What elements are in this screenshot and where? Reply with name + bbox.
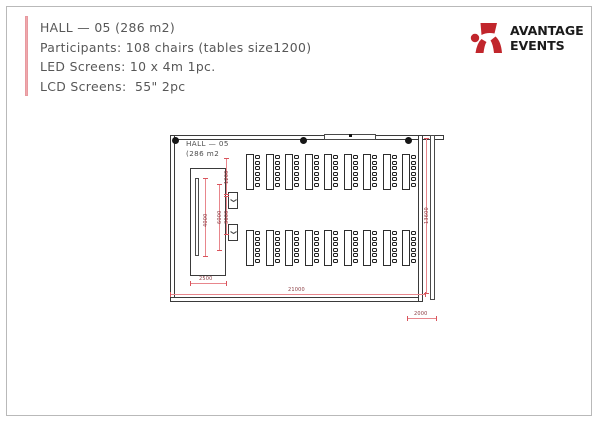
seat-group-bottom-5-chair-5 xyxy=(333,253,338,257)
seat-group-bottom-5-chair-6 xyxy=(333,259,338,263)
seat-group-bottom-8-chair-3 xyxy=(392,242,397,246)
seat-group-bottom-4-table xyxy=(305,230,313,266)
seat-group-top-7-chair-3 xyxy=(372,166,377,170)
seat-group-bottom-8-table xyxy=(383,230,391,266)
lcd-screen-2: ❯ xyxy=(228,224,238,241)
spec-line-lcd-screens: LCD Screens: 55" 2pc xyxy=(40,77,420,97)
seat-group-top-4-chair-3 xyxy=(314,166,319,170)
seat-group-top-9 xyxy=(402,154,417,190)
seat-group-top-1-chair-6 xyxy=(255,183,260,187)
seat-group-top-6-chair-4 xyxy=(353,172,358,176)
seat-group-top-7-chair-1 xyxy=(372,155,377,159)
dim-3600-cap-top xyxy=(224,196,229,197)
seat-group-top-8-table xyxy=(383,154,391,190)
dim-2000-cap-right xyxy=(436,316,437,321)
seat-group-top-8-chair-1 xyxy=(392,155,397,159)
hall-caption-line1: HALL — 05 xyxy=(186,139,229,148)
hall-wall-corridor xyxy=(430,135,435,300)
logo-word-events: EVENTS xyxy=(510,38,582,53)
seat-group-top-6-chair-5 xyxy=(353,177,358,181)
seat-group-bottom-8-chair-2 xyxy=(392,237,397,241)
seat-group-bottom-1-chair-3 xyxy=(255,242,260,246)
header-accent-rule xyxy=(25,16,28,96)
seat-group-top-7-chair-2 xyxy=(372,161,377,165)
seat-group-top-8-chair-6 xyxy=(392,183,397,187)
dim-13600-cap-top xyxy=(424,138,429,139)
pillar-3 xyxy=(405,137,412,144)
seat-group-top-4-chair-1 xyxy=(314,155,319,159)
dim-1200-cap-bottom xyxy=(224,194,229,195)
pillar-1 xyxy=(172,137,179,144)
seat-group-bottom-9 xyxy=(402,230,417,266)
seat-group-bottom-9-chair-3 xyxy=(411,242,416,246)
seat-group-top-7 xyxy=(363,154,378,190)
hall-wall-left xyxy=(170,135,175,302)
seat-group-bottom-3-chair-2 xyxy=(294,237,299,241)
seat-group-bottom-5-chair-1 xyxy=(333,231,338,235)
dim-6000-cap-top xyxy=(217,184,222,185)
spec-line-hall: HALL — 05 (286 m2) xyxy=(40,18,420,38)
seat-group-top-4-chair-2 xyxy=(314,161,319,165)
seat-group-top-6-chair-6 xyxy=(353,183,358,187)
seat-group-top-3-chair-5 xyxy=(294,177,299,181)
dim-3600-label: 3600 xyxy=(224,210,230,224)
seat-group-bottom-2-chair-2 xyxy=(275,237,280,241)
seat-group-bottom-4-chair-2 xyxy=(314,237,319,241)
drawing-page: HALL — 05 (286 m2) Participants: 108 cha… xyxy=(0,0,600,424)
seat-group-top-1-chair-3 xyxy=(255,166,260,170)
seat-group-bottom-4-chair-3 xyxy=(314,242,319,246)
seat-group-bottom-7-chair-4 xyxy=(372,248,377,252)
seat-group-bottom-2-chair-4 xyxy=(275,248,280,252)
seat-group-top-4-chair-6 xyxy=(314,183,319,187)
seat-group-bottom-7-chair-5 xyxy=(372,253,377,257)
dim-21000-label: 21000 xyxy=(288,287,305,293)
seat-group-bottom-6 xyxy=(344,230,359,266)
seat-group-top-6-chair-2 xyxy=(353,161,358,165)
seat-group-bottom-7-chair-6 xyxy=(372,259,377,263)
seat-group-top-3-chair-3 xyxy=(294,166,299,170)
dim-2000-cap-left xyxy=(407,316,408,321)
seat-group-top-8-chair-5 xyxy=(392,177,397,181)
seat-group-bottom-4 xyxy=(305,230,320,266)
dim-4000-cap-top xyxy=(203,178,208,179)
seat-group-bottom-6-chair-6 xyxy=(353,259,358,263)
dim-2000-line xyxy=(407,318,437,319)
seat-group-top-4-chair-5 xyxy=(314,177,319,181)
dim-2500-cap-right xyxy=(226,281,227,286)
seat-group-bottom-1-chair-6 xyxy=(255,259,260,263)
seat-group-top-5 xyxy=(324,154,339,190)
seat-group-bottom-3-chair-5 xyxy=(294,253,299,257)
seat-group-top-3-chair-6 xyxy=(294,183,299,187)
hall-caption-line2: (286 m2 xyxy=(186,149,219,158)
seat-group-bottom-9-chair-6 xyxy=(411,259,416,263)
seat-group-bottom-2-chair-3 xyxy=(275,242,280,246)
lcd-screen-2-glyph-icon: ❯ xyxy=(230,230,237,235)
seat-group-bottom-5 xyxy=(324,230,339,266)
seat-group-top-4-table xyxy=(305,154,313,190)
logo-wordmark: AVANTAGE EVENTS xyxy=(510,23,582,53)
seat-group-bottom-9-chair-4 xyxy=(411,248,416,252)
seat-group-bottom-7 xyxy=(363,230,378,266)
seat-group-top-5-chair-4 xyxy=(333,172,338,176)
seat-group-bottom-1-chair-1 xyxy=(255,231,260,235)
seat-group-top-9-chair-2 xyxy=(411,161,416,165)
seat-group-bottom-2-table xyxy=(266,230,274,266)
seat-group-top-1-chair-1 xyxy=(255,155,260,159)
seat-group-top-7-chair-6 xyxy=(372,183,377,187)
seat-group-bottom-5-chair-3 xyxy=(333,242,338,246)
spec-line-led-screens: LED Screens: 10 x 4m 1pc. xyxy=(40,57,420,77)
seat-group-bottom-6-chair-3 xyxy=(353,242,358,246)
seat-group-top-2-chair-2 xyxy=(275,161,280,165)
seat-group-bottom-1 xyxy=(246,230,261,266)
seat-group-top-2 xyxy=(266,154,281,190)
avantage-a-mark-icon xyxy=(470,21,504,59)
hall-wall-bottom xyxy=(170,297,423,302)
lcd-screen-1: ❯ xyxy=(228,192,238,209)
seat-group-bottom-8-chair-4 xyxy=(392,248,397,252)
seat-group-top-9-chair-5 xyxy=(411,177,416,181)
seat-group-top-1-chair-5 xyxy=(255,177,260,181)
seat-group-bottom-1-chair-5 xyxy=(255,253,260,257)
seat-group-top-1 xyxy=(246,154,261,190)
seat-group-bottom-5-table xyxy=(324,230,332,266)
led-screen-top-tick xyxy=(349,134,352,137)
dim-13600-label: 13600 xyxy=(424,207,430,224)
seat-group-top-2-chair-3 xyxy=(275,166,280,170)
seat-group-top-2-chair-4 xyxy=(275,172,280,176)
pillar-2 xyxy=(300,137,307,144)
seat-group-top-3 xyxy=(285,154,300,190)
dim-2500-cap-left xyxy=(190,281,191,286)
dim-4000-cap-bottom xyxy=(203,256,208,257)
seat-group-top-9-chair-1 xyxy=(411,155,416,159)
seat-group-top-5-chair-1 xyxy=(333,155,338,159)
seat-group-bottom-3-chair-6 xyxy=(294,259,299,263)
seat-group-bottom-5-chair-2 xyxy=(333,237,338,241)
dim-4000-label: 4000 xyxy=(203,213,209,227)
seat-group-bottom-9-chair-1 xyxy=(411,231,416,235)
seat-group-bottom-8-chair-1 xyxy=(392,231,397,235)
seat-group-top-5-chair-6 xyxy=(333,183,338,187)
seat-group-bottom-4-chair-1 xyxy=(314,231,319,235)
seat-group-top-9-chair-4 xyxy=(411,172,416,176)
seat-group-bottom-4-chair-4 xyxy=(314,248,319,252)
seat-group-bottom-2 xyxy=(266,230,281,266)
seat-group-bottom-3-chair-4 xyxy=(294,248,299,252)
floor-plan: HALL — 05 (286 m2 ❯❯ 1200 3600 4000 6000… xyxy=(162,132,444,328)
seat-group-bottom-6-chair-5 xyxy=(353,253,358,257)
seat-group-top-9-chair-6 xyxy=(411,183,416,187)
seat-group-top-1-chair-4 xyxy=(255,172,260,176)
seat-group-bottom-2-chair-5 xyxy=(275,253,280,257)
seat-group-top-1-chair-2 xyxy=(255,161,260,165)
dim-6000-label: 6000 xyxy=(217,210,223,224)
dim-21000-cap-left xyxy=(170,292,171,297)
seat-group-bottom-3 xyxy=(285,230,300,266)
seat-group-bottom-7-chair-1 xyxy=(372,231,377,235)
stage-led-screen xyxy=(195,178,199,256)
seat-group-top-3-chair-2 xyxy=(294,161,299,165)
seat-group-top-6 xyxy=(344,154,359,190)
seat-group-bottom-6-chair-1 xyxy=(353,231,358,235)
seat-group-bottom-1-chair-4 xyxy=(255,248,260,252)
seat-group-bottom-6-chair-4 xyxy=(353,248,358,252)
seat-group-bottom-7-chair-2 xyxy=(372,237,377,241)
hall-caption: HALL — 05 (286 m2 xyxy=(186,139,229,159)
seat-group-bottom-9-chair-2 xyxy=(411,237,416,241)
seat-group-top-4 xyxy=(305,154,320,190)
seat-group-bottom-4-chair-6 xyxy=(314,259,319,263)
spec-list: HALL — 05 (286 m2) Participants: 108 cha… xyxy=(40,18,420,96)
seat-group-top-5-chair-2 xyxy=(333,161,338,165)
seat-group-bottom-7-table xyxy=(363,230,371,266)
seat-group-bottom-5-chair-4 xyxy=(333,248,338,252)
seat-group-top-3-chair-1 xyxy=(294,155,299,159)
seat-group-bottom-2-chair-1 xyxy=(275,231,280,235)
seat-group-top-5-chair-5 xyxy=(333,177,338,181)
seat-group-top-7-chair-5 xyxy=(372,177,377,181)
seat-group-top-2-chair-6 xyxy=(275,183,280,187)
seat-group-bottom-8-chair-5 xyxy=(392,253,397,257)
logo-word-avantage: AVANTAGE xyxy=(510,23,582,38)
seat-group-top-7-chair-4 xyxy=(372,172,377,176)
seat-group-top-6-chair-1 xyxy=(353,155,358,159)
dim-2000-label: 2000 xyxy=(414,311,428,317)
dim-6000-cap-bottom xyxy=(217,250,222,251)
seat-group-top-8-chair-3 xyxy=(392,166,397,170)
seat-group-bottom-6-chair-2 xyxy=(353,237,358,241)
seat-group-top-2-chair-5 xyxy=(275,177,280,181)
seat-group-top-4-chair-4 xyxy=(314,172,319,176)
seat-group-top-6-chair-3 xyxy=(353,166,358,170)
seat-group-bottom-1-chair-2 xyxy=(255,237,260,241)
seat-group-top-5-table xyxy=(324,154,332,190)
seat-group-top-3-chair-4 xyxy=(294,172,299,176)
seat-group-bottom-1-table xyxy=(246,230,254,266)
dim-2500-label: 2500 xyxy=(199,276,213,282)
seat-group-bottom-9-table xyxy=(402,230,410,266)
seat-group-top-8 xyxy=(383,154,398,190)
seat-group-bottom-4-chair-5 xyxy=(314,253,319,257)
seat-group-bottom-2-chair-6 xyxy=(275,259,280,263)
seat-group-top-6-table xyxy=(344,154,352,190)
seat-group-bottom-3-table xyxy=(285,230,293,266)
seat-group-bottom-9-chair-5 xyxy=(411,253,416,257)
seat-group-top-2-chair-1 xyxy=(275,155,280,159)
brand-logo: AVANTAGE EVENTS xyxy=(470,20,582,62)
seat-group-top-5-chair-3 xyxy=(333,166,338,170)
seat-group-bottom-3-chair-3 xyxy=(294,242,299,246)
lcd-screen-1-glyph-icon: ❯ xyxy=(230,198,237,203)
seat-group-bottom-6-table xyxy=(344,230,352,266)
seat-group-bottom-3-chair-1 xyxy=(294,231,299,235)
seat-group-bottom-7-chair-3 xyxy=(372,242,377,246)
seat-group-top-3-table xyxy=(285,154,293,190)
dim-3600-cap-bottom xyxy=(224,234,229,235)
seat-group-top-2-table xyxy=(266,154,274,190)
seat-group-top-8-chair-4 xyxy=(392,172,397,176)
seat-group-top-8-chair-2 xyxy=(392,161,397,165)
seat-group-bottom-8 xyxy=(383,230,398,266)
seat-group-top-9-chair-3 xyxy=(411,166,416,170)
hall-wall-right xyxy=(418,135,423,302)
seat-group-top-7-table xyxy=(363,154,371,190)
spec-line-participants: Participants: 108 chairs (tables size120… xyxy=(40,38,420,58)
dim-1200-cap-top xyxy=(224,158,229,159)
dim-2500-line xyxy=(190,283,226,284)
seat-group-bottom-8-chair-6 xyxy=(392,259,397,263)
dim-21000-line xyxy=(170,294,426,295)
seat-group-top-9-table xyxy=(402,154,410,190)
dim-13600-cap-bottom xyxy=(424,293,429,294)
seat-group-top-1-table xyxy=(246,154,254,190)
dim-1200-label: 1200 xyxy=(224,170,230,184)
